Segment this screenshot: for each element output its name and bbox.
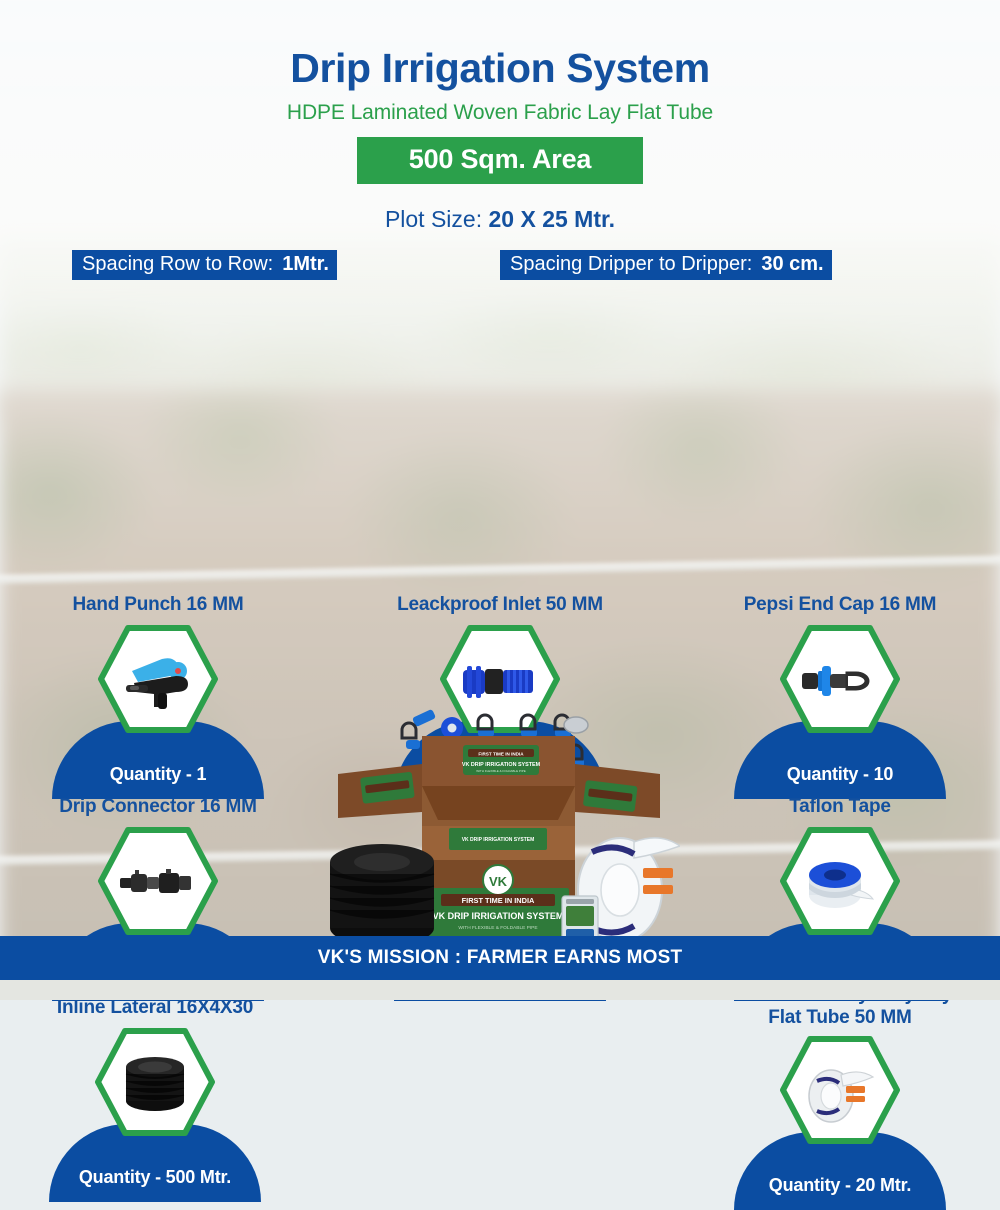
- svg-text:VK DRIP IRRIGATION SYSTEM: VK DRIP IRRIGATION SYSTEM: [462, 837, 535, 843]
- spacing-dripper-to-dripper-value: 30 cm.: [759, 250, 831, 280]
- page-title: Drip Irrigation System: [0, 0, 1000, 91]
- product-name: Leackproof Inlet 50 MM: [350, 594, 650, 616]
- hexagon-frame: [779, 1035, 901, 1145]
- bottom-strip: [0, 980, 1000, 1000]
- hexagon-frame: [779, 624, 901, 734]
- leackproof-inlet-icon: [461, 661, 539, 701]
- product-quantity: Quantity - 20 Mtr.: [769, 1175, 911, 1210]
- product-name: Taflon Tape: [690, 796, 990, 818]
- svg-text:WITH FLEXIBLE & FOLDABLE PIPE: WITH FLEXIBLE & FOLDABLE PIPE: [476, 769, 526, 773]
- spacing-row-to-row: Spacing Row to Row: 1Mtr.: [72, 250, 337, 280]
- hexagon-frame: [94, 1027, 216, 1137]
- product-name: Drip Connector 16 MM: [8, 796, 308, 818]
- lay-flat-tube-icon: [801, 1059, 879, 1125]
- product-quantity: Quantity - 10: [787, 764, 893, 799]
- lay-flat-roll-art: [562, 838, 680, 946]
- product-card-hand-punch[interactable]: Hand Punch 16 MM Quantity - 1: [8, 594, 308, 798]
- box-flap-tagline: FIRST TIME IN INDIA: [478, 752, 524, 757]
- drip-connector-icon: [118, 867, 198, 899]
- product-card-pepsi-end-cap[interactable]: Pepsi End Cap 16 MM Quantity - 10: [690, 594, 990, 798]
- plot-size-label: Plot Size:: [385, 206, 482, 232]
- area-banner: 500 Sqm. Area: [357, 137, 644, 184]
- product-name: Hand Punch 16 MM: [8, 594, 308, 616]
- product-box-art: FIRST TIME IN INDIA VK DRIP IRRIGATION S…: [330, 700, 680, 950]
- area-banner-wrap: 500 Sqm. Area: [0, 137, 1000, 184]
- product-name: Inline Lateral 16X4X30: [5, 997, 305, 1019]
- spacing-row-to-row-value: 1Mtr.: [280, 250, 337, 280]
- hexagon-frame: [779, 826, 901, 936]
- box-tagline: FIRST TIME IN INDIA: [462, 896, 535, 905]
- footer-mission-text: VK'S MISSION : FARMER EARNS MOST: [318, 947, 683, 969]
- hexagon-frame: [97, 624, 219, 734]
- pepsi-end-cap-icon: [800, 662, 880, 700]
- inline-lateral-coil-icon: [119, 1055, 191, 1113]
- box-brand: VK: [489, 874, 508, 889]
- box-product-line: VK DRIP IRRIGATION SYSTEM: [433, 911, 564, 921]
- spacing-dripper-to-dripper: Spacing Dripper to Dripper: 30 cm.: [500, 250, 832, 280]
- hand-punch-icon: [118, 649, 198, 713]
- box-sub-line: WITH FLEXIBLE & FOLDABLE PIPE: [458, 925, 537, 931]
- hexagon-frame: [97, 826, 219, 936]
- page-subtitle: HDPE Laminated Woven Fabric Lay Flat Tub…: [0, 101, 1000, 125]
- taflon-tape-icon: [803, 853, 877, 913]
- product-quantity: Quantity - 500 Mtr.: [79, 1167, 231, 1202]
- box-flap-line: VK DRIP IRRIGATION SYSTEM: [462, 762, 541, 768]
- spacing-row: Spacing Row to Row: 1Mtr. Spacing Drippe…: [0, 250, 1000, 284]
- product-name: Pepsi End Cap 16 MM: [690, 594, 990, 616]
- product-quantity: Quantity - 1: [110, 764, 207, 799]
- spacing-row-to-row-label: Spacing Row to Row:: [72, 250, 280, 280]
- coil-art: [330, 844, 434, 946]
- product-card-lay-flat-tube[interactable]: Sarvottam Heay Duty Lay Flat Tube 50 MM …: [690, 984, 990, 1210]
- plot-size-value: 20 X 25 Mtr.: [488, 206, 615, 232]
- product-card-inline-lateral[interactable]: Inline Lateral 16X4X30 Quantity - 500 Mt…: [5, 997, 305, 1201]
- plot-size: Plot Size: 20 X 25 Mtr.: [0, 206, 1000, 233]
- spacing-dripper-to-dripper-label: Spacing Dripper to Dripper:: [500, 250, 759, 280]
- footer-banner: VK'S MISSION : FARMER EARNS MOST: [0, 936, 1000, 980]
